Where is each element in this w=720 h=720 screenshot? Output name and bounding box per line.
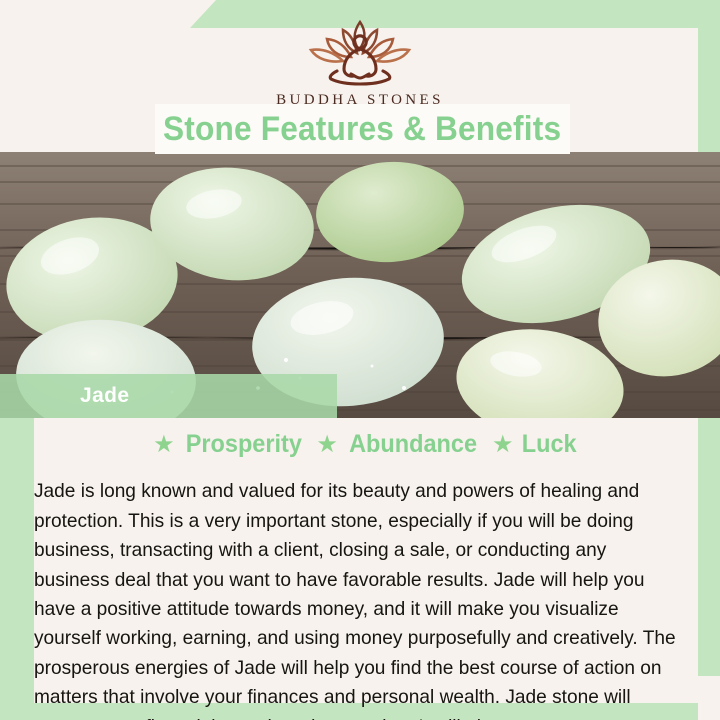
brand-logo-block: BUDDHA STONES — [0, 14, 720, 109]
benefit-item-prosperity: ★ Prosperity — [153, 430, 305, 459]
star-icon: ★ — [153, 433, 175, 457]
benefit-item-abundance: ★ Abundance — [316, 430, 481, 459]
stone-name-label: Jade — [80, 384, 129, 408]
stone-photo: Jade — [0, 152, 720, 418]
photo-caption-band: Jade — [0, 374, 337, 418]
benefit-label: Abundance — [349, 430, 477, 459]
benefit-label: Luck — [522, 430, 577, 459]
stone-description: Jade is long known and valued for its be… — [34, 477, 686, 720]
stone-info-card: BUDDHA STONES Stone Features & Benefits — [0, 0, 720, 720]
decor-bottom-left-corner — [0, 700, 34, 720]
benefit-label: Prosperity — [185, 430, 301, 459]
star-icon: ★ — [492, 433, 514, 457]
lotus-meditation-icon — [287, 14, 433, 88]
page-title: Stone Features & Benefits — [163, 110, 561, 149]
star-icon: ★ — [316, 433, 338, 457]
benefits-row: ★ Prosperity ★ Abundance ★ Luck — [34, 430, 698, 459]
benefit-item-luck: ★ Luck — [492, 430, 579, 459]
section-title-banner: Stone Features & Benefits — [155, 104, 570, 154]
